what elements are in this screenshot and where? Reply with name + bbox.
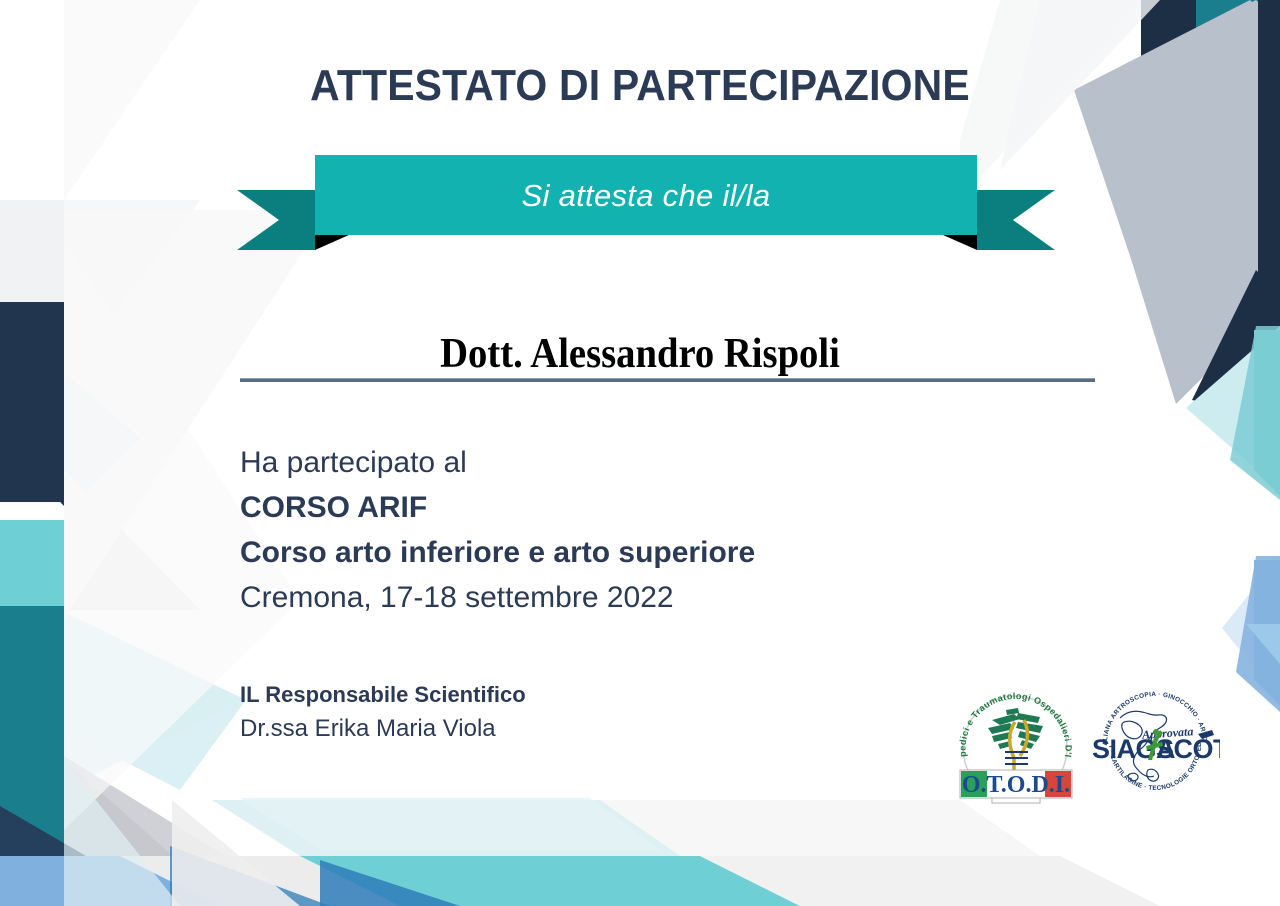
siagascot-wordmark: SIAGA SCOT (1092, 729, 1220, 764)
otodi-flag-banner: O.T.O.D.I. (960, 770, 1072, 798)
otodi-logo: Ortopedici e Traumatologi Ospedalieri D'… (948, 686, 1083, 804)
ribbon-label: Si attesta che il/la (237, 170, 1055, 222)
recipient-name: Dott. Alessandro Rispoli (217, 330, 1063, 378)
body-line-course-title: Corso arto inferiore e arto superiore (240, 530, 940, 575)
otodi-banner-notch (992, 798, 1040, 803)
body-text-block: Ha partecipato al CORSO ARIF Corso arto … (240, 440, 940, 620)
body-line-intro: Ha partecipato al (240, 440, 940, 485)
signature-block: IL Responsabile Scientifico Dr.ssa Erika… (240, 678, 840, 746)
body-line-course-code: CORSO ARIF (240, 485, 940, 530)
svg-text:SCOT: SCOT (1156, 734, 1220, 764)
certificate-page: ATTESTATO DI PARTECIPAZIONE Si attesta c… (0, 0, 1280, 906)
otodi-acronym: O.T.O.D.I. (962, 772, 1070, 798)
recipient-name-rule (240, 378, 1095, 382)
page-title: ATTESTATO DI PARTECIPAZIONE (45, 61, 1235, 111)
signature-role: IL Responsabile Scientifico (240, 678, 840, 712)
certificate-content: ATTESTATO DI PARTECIPAZIONE Si attesta c… (0, 0, 1280, 906)
ribbon-banner: Si attesta che il/la (237, 155, 1055, 250)
siagascot-logo: SOCIETÀ ITALIANA ARTROSCOPIA · GINOCCHIO… (1090, 682, 1220, 800)
signature-name: Dr.ssa Erika Maria Viola (240, 712, 840, 746)
body-line-location-date: Cremona, 17-18 settembre 2022 (240, 575, 940, 620)
